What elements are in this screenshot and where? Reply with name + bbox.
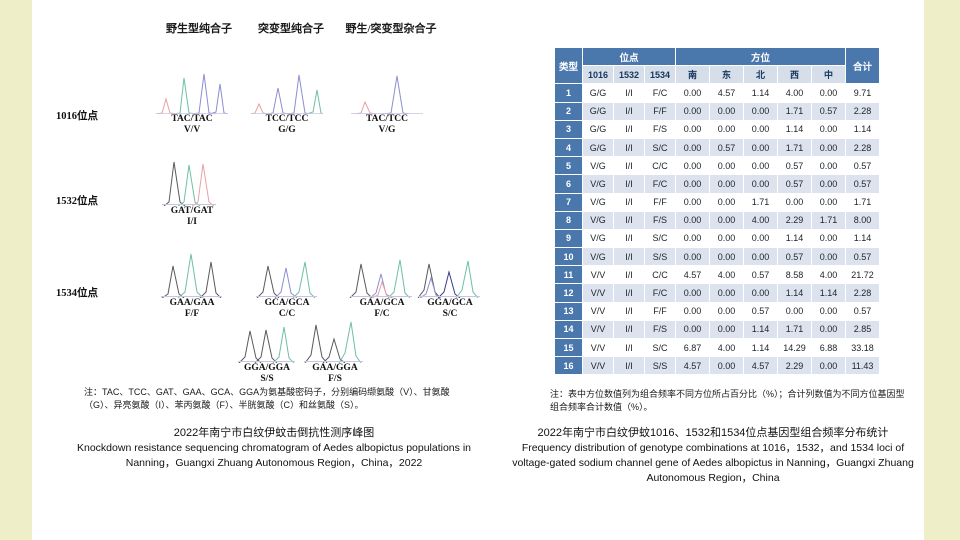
cell-east: 4.00 [710, 339, 744, 357]
chromatogram-caption: 2022年南宁市白纹伊蚊击倒抗性测序峰图 Knockdown resistanc… [74, 425, 474, 471]
cell-center: 4.00 [812, 266, 846, 284]
chromatogram-1534-fc: GAA/GCA F/C [346, 252, 418, 319]
table-row: 9V/GI/IS/C0.000.000.001.140.001.14 [555, 229, 880, 247]
cell-1534: F/S [645, 211, 676, 229]
cell-east: 0.00 [710, 211, 744, 229]
cell-1016: V/V [583, 302, 614, 320]
chromatogram-codon-label: GAA/GAA [170, 298, 215, 308]
cell-type: 10 [555, 248, 583, 266]
header-direction-north: 北 [744, 66, 778, 84]
cell-east: 0.00 [710, 102, 744, 120]
cell-south: 0.00 [676, 120, 710, 138]
slide-content-card: 野生型纯合子 突变型纯合子 野生/突变型杂合子 1016位点 1532位点 15… [32, 0, 924, 540]
chromatogram-trace-icon [346, 252, 418, 298]
cell-south: 0.00 [676, 284, 710, 302]
cell-total: 8.00 [846, 211, 880, 229]
cell-total: 0.57 [846, 248, 880, 266]
cell-east: 0.00 [710, 357, 744, 375]
cell-east: 0.00 [710, 284, 744, 302]
cell-center: 0.00 [812, 248, 846, 266]
chromatogram-1532-wildtype: GAT/GAT I/I [156, 160, 228, 227]
cell-south: 0.00 [676, 175, 710, 193]
cell-1016: V/G [583, 229, 614, 247]
table-header: 类型 位点 方位 合计 1016 1532 1534 南 东 北 西 中 [555, 48, 880, 84]
chromatogram-caption-chinese: 2022年南宁市白纹伊蚊击倒抗性测序峰图 [74, 425, 474, 441]
cell-west: 4.00 [778, 84, 812, 102]
cell-west: 1.71 [778, 102, 812, 120]
chromatogram-trace-icon [231, 317, 303, 363]
table-row: 13V/VI/IF/F0.000.000.570.000.000.57 [555, 302, 880, 320]
cell-1016: V/V [583, 320, 614, 338]
cell-south: 0.00 [676, 229, 710, 247]
cell-1016: V/V [583, 357, 614, 375]
cell-total: 0.57 [846, 175, 880, 193]
cell-south: 0.00 [676, 138, 710, 156]
table-row: 1G/GI/IF/C0.004.571.144.000.009.71 [555, 84, 880, 102]
header-direction-group: 方位 [676, 48, 846, 66]
cell-1534: F/S [645, 120, 676, 138]
header-locus-group: 位点 [583, 48, 676, 66]
chromatogram-aminoacid-label: G/G [278, 125, 295, 135]
genotype-table-note: 注：表中方位数值列为组合频率不同方位所占百分比（%）；合计列数值为不同方位基因型… [550, 388, 910, 414]
cell-center: 0.00 [812, 229, 846, 247]
cell-center: 0.00 [812, 320, 846, 338]
cell-south: 0.00 [676, 84, 710, 102]
cell-type: 12 [555, 284, 583, 302]
cell-center: 0.00 [812, 175, 846, 193]
cell-center: 1.14 [812, 284, 846, 302]
cell-total: 2.28 [846, 138, 880, 156]
cell-total: 11.43 [846, 357, 880, 375]
cell-1532: I/I [614, 302, 645, 320]
cell-1534: S/S [645, 357, 676, 375]
table-row: 3G/GI/IF/S0.000.000.001.140.001.14 [555, 120, 880, 138]
chromatogram-1016-wildtype: TAC/TAC V/V [156, 68, 228, 135]
cell-1532: I/I [614, 157, 645, 175]
cell-1016: V/G [583, 248, 614, 266]
table-body: 1G/GI/IF/C0.004.571.144.000.009.712G/GI/… [555, 84, 880, 375]
cell-type: 8 [555, 211, 583, 229]
cell-1532: I/I [614, 193, 645, 211]
cell-west: 1.71 [778, 320, 812, 338]
cell-south: 0.00 [676, 211, 710, 229]
cell-1532: I/I [614, 266, 645, 284]
table-row: 14V/VI/IF/S0.000.001.141.710.002.85 [555, 320, 880, 338]
cell-type: 11 [555, 266, 583, 284]
chromatogram-1016-mutant: TCC/TCC G/G [251, 68, 323, 135]
chromatogram-codon-label: TAC/TCC [366, 114, 408, 124]
cell-south: 4.57 [676, 357, 710, 375]
cell-north: 0.57 [744, 266, 778, 284]
cell-1534: S/S [645, 248, 676, 266]
cell-type: 3 [555, 120, 583, 138]
cell-south: 0.00 [676, 320, 710, 338]
header-direction-center: 中 [812, 66, 846, 84]
cell-east: 4.57 [710, 84, 744, 102]
table-row: 15V/VI/IS/C6.874.001.1414.296.8833.18 [555, 339, 880, 357]
cell-1532: I/I [614, 211, 645, 229]
cell-1532: I/I [614, 120, 645, 138]
table-row: 10V/GI/IS/S0.000.000.000.570.000.57 [555, 248, 880, 266]
cell-total: 2.28 [846, 102, 880, 120]
cell-total: 9.71 [846, 84, 880, 102]
chromatogram-row-label-1016: 1016位点 [56, 108, 98, 123]
cell-west: 1.14 [778, 229, 812, 247]
cell-1016: V/G [583, 175, 614, 193]
cell-north: 0.00 [744, 284, 778, 302]
cell-1016: V/G [583, 211, 614, 229]
cell-1532: I/I [614, 339, 645, 357]
cell-center: 1.71 [812, 211, 846, 229]
cell-center: 0.57 [812, 102, 846, 120]
cell-north: 1.14 [744, 339, 778, 357]
chromatogram-trace-icon [251, 252, 323, 298]
cell-north: 4.00 [744, 211, 778, 229]
cell-east: 0.00 [710, 175, 744, 193]
cell-type: 1 [555, 84, 583, 102]
table-row: 6V/GI/IF/C0.000.000.000.570.000.57 [555, 175, 880, 193]
cell-west: 0.57 [778, 175, 812, 193]
chromatogram-figure-panel: 野生型纯合子 突变型纯合子 野生/突变型杂合子 1016位点 1532位点 15… [56, 20, 488, 510]
chromatogram-trace-icon [156, 252, 228, 298]
cell-north: 4.57 [744, 357, 778, 375]
cell-east: 0.00 [710, 248, 744, 266]
cell-south: 0.00 [676, 102, 710, 120]
genotype-table-panel: 类型 位点 方位 合计 1016 1532 1534 南 东 北 西 中 [502, 20, 912, 510]
cell-total: 1.14 [846, 120, 880, 138]
cell-1534: C/C [645, 157, 676, 175]
cell-total: 0.57 [846, 302, 880, 320]
genotype-table-caption-english: Frequency distribution of genotype combi… [508, 441, 918, 486]
cell-west: 1.14 [778, 284, 812, 302]
cell-type: 13 [555, 302, 583, 320]
header-locus-1532: 1532 [614, 66, 645, 84]
cell-total: 1.71 [846, 193, 880, 211]
cell-1534: F/F [645, 193, 676, 211]
cell-center: 0.00 [812, 157, 846, 175]
chromatogram-trace-icon [156, 68, 228, 114]
cell-west: 2.29 [778, 211, 812, 229]
cell-1016: G/G [583, 84, 614, 102]
cell-south: 4.57 [676, 266, 710, 284]
cell-east: 0.00 [710, 193, 744, 211]
chromatogram-aminoacid-label: F/F [185, 309, 199, 319]
chromatogram-1534-ss: GGA/GGA S/S [231, 317, 303, 384]
cell-east: 0.00 [710, 120, 744, 138]
cell-total: 1.14 [846, 229, 880, 247]
header-type: 类型 [555, 48, 583, 84]
table-header-row-groups: 类型 位点 方位 合计 [555, 48, 880, 66]
cell-west: 14.29 [778, 339, 812, 357]
cell-north: 0.00 [744, 102, 778, 120]
header-total: 合计 [846, 48, 880, 84]
cell-east: 0.00 [710, 229, 744, 247]
chromatogram-trace-icon [351, 68, 423, 114]
table-row: 5V/GI/IC/C0.000.000.000.570.000.57 [555, 157, 880, 175]
chromatogram-1534-ff: GAA/GAA F/F [156, 252, 228, 319]
cell-1016: V/V [583, 266, 614, 284]
chromatogram-1534-sc: GGA/GCA S/C [414, 252, 486, 319]
cell-center: 0.00 [812, 138, 846, 156]
cell-type: 15 [555, 339, 583, 357]
cell-center: 0.00 [812, 357, 846, 375]
cell-north: 0.00 [744, 120, 778, 138]
cell-1016: G/G [583, 120, 614, 138]
chromatogram-codon-label: GAA/GGA [312, 363, 357, 373]
chromatogram-trace-icon [414, 252, 486, 298]
cell-north: 0.57 [744, 302, 778, 320]
chromatogram-codon-label: GCA/GCA [265, 298, 310, 308]
chromatogram-codon-label: GAA/GCA [360, 298, 405, 308]
cell-1016: V/V [583, 284, 614, 302]
chromatogram-trace-icon [156, 160, 228, 206]
chromatogram-aminoacid-label: V/G [379, 125, 396, 135]
cell-total: 33.18 [846, 339, 880, 357]
cell-1532: I/I [614, 138, 645, 156]
cell-north: 1.14 [744, 320, 778, 338]
header-direction-south: 南 [676, 66, 710, 84]
cell-type: 2 [555, 102, 583, 120]
chromatogram-note: 注：TAC、TCC、GAT、GAA、GCA、GGA为氨基酸密码子，分别编码缬氨酸… [84, 386, 462, 412]
header-locus-1534: 1534 [645, 66, 676, 84]
cell-1534: F/C [645, 284, 676, 302]
cell-center: 0.00 [812, 84, 846, 102]
header-direction-west: 西 [778, 66, 812, 84]
chromatogram-column-header-heterozygote: 野生/突变型杂合子 [334, 20, 448, 36]
cell-west: 0.00 [778, 302, 812, 320]
chromatogram-aminoacid-label: F/C [374, 309, 389, 319]
cell-west: 8.58 [778, 266, 812, 284]
chromatogram-codon-label: TAC/TAC [171, 114, 212, 124]
chromatogram-trace-icon [299, 317, 371, 363]
cell-west: 0.57 [778, 157, 812, 175]
cell-east: 0.57 [710, 138, 744, 156]
cell-south: 6.87 [676, 339, 710, 357]
cell-north: 1.14 [744, 84, 778, 102]
cell-1016: V/G [583, 157, 614, 175]
chromatogram-aminoacid-label: V/V [184, 125, 200, 135]
chromatogram-caption-english: Knockdown resistance sequencing chromato… [74, 441, 474, 471]
cell-type: 14 [555, 320, 583, 338]
chromatogram-trace-icon [251, 68, 323, 114]
cell-1016: G/G [583, 138, 614, 156]
cell-1532: I/I [614, 284, 645, 302]
table-row: 16V/VI/IS/S4.570.004.572.290.0011.43 [555, 357, 880, 375]
genotype-table-caption: 2022年南宁市白纹伊蚊1016、1532和1534位点基因型组合频率分布统计 … [508, 425, 918, 486]
cell-west: 2.29 [778, 357, 812, 375]
table-row: 8V/GI/IF/S0.000.004.002.291.718.00 [555, 211, 880, 229]
cell-south: 0.00 [676, 193, 710, 211]
chromatogram-1534-cc: GCA/GCA C/C [251, 252, 323, 319]
cell-east: 4.00 [710, 266, 744, 284]
cell-1532: I/I [614, 357, 645, 375]
cell-center: 0.00 [812, 193, 846, 211]
cell-north: 0.00 [744, 138, 778, 156]
chromatogram-aminoacid-label: S/C [443, 309, 458, 319]
table-row: 4G/GI/IS/C0.000.570.001.710.002.28 [555, 138, 880, 156]
genotype-frequency-table: 类型 位点 方位 合计 1016 1532 1534 南 东 北 西 中 [554, 47, 880, 375]
cell-west: 0.00 [778, 193, 812, 211]
header-direction-east: 东 [710, 66, 744, 84]
cell-1534: F/C [645, 175, 676, 193]
chromatogram-aminoacid-label: S/S [260, 374, 273, 384]
cell-south: 0.00 [676, 248, 710, 266]
cell-1532: I/I [614, 248, 645, 266]
cell-east: 0.00 [710, 157, 744, 175]
chromatogram-codon-label: TCC/TCC [266, 114, 309, 124]
cell-type: 6 [555, 175, 583, 193]
cell-north: 0.00 [744, 157, 778, 175]
cell-center: 0.00 [812, 302, 846, 320]
cell-east: 0.00 [710, 320, 744, 338]
cell-type: 9 [555, 229, 583, 247]
cell-north: 0.00 [744, 175, 778, 193]
cell-1016: V/G [583, 193, 614, 211]
cell-center: 6.88 [812, 339, 846, 357]
slide-canvas: 野生型纯合子 突变型纯合子 野生/突变型杂合子 1016位点 1532位点 15… [0, 0, 960, 540]
genotype-table-caption-chinese: 2022年南宁市白纹伊蚊1016、1532和1534位点基因型组合频率分布统计 [508, 425, 918, 441]
chromatogram-aminoacid-label: F/S [328, 374, 342, 384]
chromatogram-codon-label: GGA/GCA [427, 298, 472, 308]
chromatogram-1016-heterozygote: TAC/TCC V/G [351, 68, 423, 135]
cell-type: 4 [555, 138, 583, 156]
cell-south: 0.00 [676, 157, 710, 175]
cell-total: 0.57 [846, 157, 880, 175]
cell-north: 1.71 [744, 193, 778, 211]
cell-1534: F/F [645, 102, 676, 120]
cell-1534: F/F [645, 302, 676, 320]
chromatogram-codon-label: GGA/GGA [244, 363, 290, 373]
cell-north: 0.00 [744, 248, 778, 266]
table-row: 2G/GI/IF/F0.000.000.001.710.572.28 [555, 102, 880, 120]
table-row: 7V/GI/IF/F0.000.001.710.000.001.71 [555, 193, 880, 211]
table-header-row-sub: 1016 1532 1534 南 东 北 西 中 [555, 66, 880, 84]
cell-1532: I/I [614, 84, 645, 102]
chromatogram-column-header-wildtype-homozygote: 野生型纯合子 [154, 20, 244, 36]
cell-north: 0.00 [744, 229, 778, 247]
chromatogram-row-label-1534: 1534位点 [56, 285, 98, 300]
cell-type: 16 [555, 357, 583, 375]
cell-1534: S/C [645, 138, 676, 156]
cell-1534: C/C [645, 266, 676, 284]
cell-west: 0.57 [778, 248, 812, 266]
cell-type: 7 [555, 193, 583, 211]
cell-1532: I/I [614, 229, 645, 247]
cell-east: 0.00 [710, 302, 744, 320]
cell-total: 21.72 [846, 266, 880, 284]
cell-west: 1.14 [778, 120, 812, 138]
cell-center: 0.00 [812, 120, 846, 138]
cell-1534: F/C [645, 84, 676, 102]
cell-1532: I/I [614, 175, 645, 193]
cell-south: 0.00 [676, 302, 710, 320]
chromatogram-row-label-1532: 1532位点 [56, 193, 98, 208]
cell-1532: I/I [614, 102, 645, 120]
cell-type: 5 [555, 157, 583, 175]
chromatogram-column-header-mutant-homozygote: 突变型纯合子 [246, 20, 336, 36]
chromatogram-1534-fs: GAA/GGA F/S [299, 317, 371, 384]
table-row: 11V/VI/IC/C4.574.000.578.584.0021.72 [555, 266, 880, 284]
cell-1016: V/V [583, 339, 614, 357]
cell-1534: S/C [645, 229, 676, 247]
cell-1532: I/I [614, 320, 645, 338]
cell-total: 2.85 [846, 320, 880, 338]
table-row: 12V/VI/IF/C0.000.000.001.141.142.28 [555, 284, 880, 302]
cell-1534: S/C [645, 339, 676, 357]
cell-1534: F/S [645, 320, 676, 338]
cell-1016: G/G [583, 102, 614, 120]
chromatogram-codon-label: GAT/GAT [171, 206, 213, 216]
header-locus-1016: 1016 [583, 66, 614, 84]
chromatogram-aminoacid-label: I/I [187, 217, 197, 227]
cell-west: 1.71 [778, 138, 812, 156]
cell-total: 2.28 [846, 284, 880, 302]
